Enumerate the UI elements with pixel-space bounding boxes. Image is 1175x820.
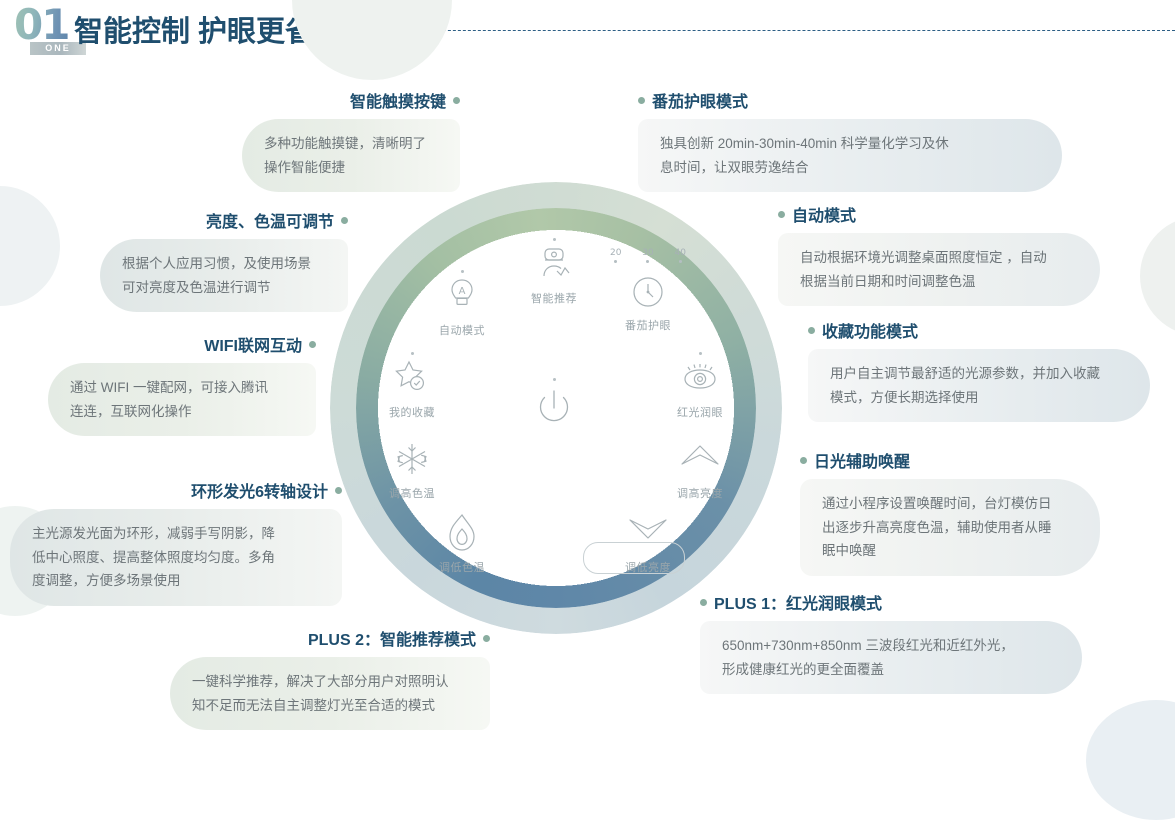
header-divider-dashed xyxy=(348,30,1175,31)
callout-plus1-red-light: PLUS 1：红光润眼模式 650nm+730nm+850nm 三波段红光和近红… xyxy=(700,590,1082,694)
svg-text:A: A xyxy=(459,286,466,297)
bullet-dot-icon xyxy=(638,97,645,104)
dial-slider-pill[interactable] xyxy=(583,542,685,574)
eye-icon xyxy=(654,357,746,403)
callout-heading: PLUS 2：智能推荐模式 xyxy=(308,626,476,650)
callout-body: 650nm+730nm+850nm 三波段红光和近红外光，形成健康红光的更全面覆… xyxy=(700,621,1082,694)
callout-heading: 智能触摸按键 xyxy=(350,88,446,112)
callout-heading: PLUS 1：红光润眼模式 xyxy=(714,590,882,614)
indicator-dot xyxy=(553,378,556,381)
callout-body: 根据个人应用习惯，及使用场景可对亮度及色温进行调节 xyxy=(100,239,348,312)
bullet-dot-icon xyxy=(335,487,342,494)
callout-body: 通过 WIFI 一键配网，可接入腾讯连连，互联网化操作 xyxy=(48,363,316,436)
callout-body: 通过小程序设置唤醒时间，台灯模仿日出逐步升高亮度色温，辅助使用者从睡眠中唤醒 xyxy=(800,479,1100,576)
callout-plus2-smart-recommend: PLUS 2：智能推荐模式 一键科学推荐，解决了大部分用户对照明认知不足而无法自… xyxy=(170,626,490,730)
callout-body: 多种功能触摸键，清晰明了操作智能便捷 xyxy=(242,119,460,192)
callout-heading-row: 收藏功能模式 xyxy=(808,318,1150,342)
dial-button-red-light[interactable]: 红光润眼 xyxy=(654,352,746,420)
snowflake-icon xyxy=(366,438,458,484)
callout-heading-row: 番茄护眼模式 xyxy=(638,88,1062,112)
dial-label: 调低色温 xyxy=(416,559,508,575)
callout-touch-buttons: 智能触摸按键 多种功能触摸键，清晰明了操作智能便捷 xyxy=(242,88,460,192)
chevron-up-icon xyxy=(654,438,746,484)
bullet-dot-icon xyxy=(808,327,815,334)
dial-button-color-temp-down[interactable]: 调低色温 xyxy=(416,512,508,575)
bullet-dot-icon xyxy=(800,457,807,464)
dial-button-color-temp-up[interactable]: 调高色温 xyxy=(366,438,458,501)
bullet-dot-icon xyxy=(453,97,460,104)
scale-dot xyxy=(646,260,649,263)
dial-label: 番茄护眼 xyxy=(602,317,694,333)
section-number: 01 xyxy=(14,4,68,46)
person-chart-icon xyxy=(508,243,600,289)
dial-label: 自动模式 xyxy=(416,322,508,338)
indicator-dot xyxy=(461,270,464,273)
callout-tomato-eyecare: 番茄护眼模式 独具创新 20min-30min-40min 科学量化学习及休息时… xyxy=(638,88,1062,192)
dial-label: 我的收藏 xyxy=(366,404,458,420)
indicator-dot xyxy=(553,238,556,241)
callout-heading: 日光辅助唤醒 xyxy=(814,448,910,472)
scale-tick-30: 30 xyxy=(642,248,653,263)
decorative-arc xyxy=(292,0,452,80)
decorative-circle xyxy=(0,186,60,306)
callout-heading: WIFI联网互动 xyxy=(204,332,302,356)
callout-body: 独具创新 20min-30min-40min 科学量化学习及休息时间，让双眼劳逸… xyxy=(638,119,1062,192)
scale-tick-40: 40 xyxy=(675,248,686,263)
scale-tick-label: 20 xyxy=(610,248,621,258)
page-header: 01 ONE 智能控制 护眼更省心 xyxy=(0,0,1175,66)
callout-body: 一键科学推荐，解决了大部分用户对照明认知不足而无法自主调整灯光至合适的模式 xyxy=(170,657,490,730)
callout-wifi: WIFI联网互动 通过 WIFI 一键配网，可接入腾讯连连，互联网化操作 xyxy=(48,332,316,436)
power-icon xyxy=(508,383,600,429)
callout-heading-row: WIFI联网互动 xyxy=(48,332,316,356)
callout-body: 自动根据环境光调整桌面照度恒定 ，自动根据当前日期和时间调整色温 xyxy=(778,233,1100,306)
bullet-dot-icon xyxy=(309,341,316,348)
dial-button-tomato-eyecare[interactable]: 番茄护眼 xyxy=(602,270,694,333)
scale-tick-20: 20 xyxy=(610,248,621,263)
callout-auto-mode: 自动模式 自动根据环境光调整桌面照度恒定 ，自动根据当前日期和时间调整色温 xyxy=(778,202,1100,306)
callout-heading-row: 亮度、色温可调节 xyxy=(100,208,348,232)
bullet-dot-icon xyxy=(700,599,707,606)
bullet-dot-icon xyxy=(778,211,785,218)
callout-ring-design: 环形发光6转轴设计 主光源发光面为环形，减弱手写阴影，降低中心照度、提高整体照度… xyxy=(10,478,342,606)
clock-icon xyxy=(602,270,694,316)
callout-heading-row: PLUS 1：红光润眼模式 xyxy=(700,590,1082,614)
callout-heading: 番茄护眼模式 xyxy=(652,88,748,112)
scale-tick-label: 40 xyxy=(675,248,686,258)
bullet-dot-icon xyxy=(483,635,490,642)
callout-body: 主光源发光面为环形，减弱手写阴影，降低中心照度、提高整体照度均匀度。多角度调整，… xyxy=(10,509,342,606)
tomato-timer-scale: 20 30 40 xyxy=(602,248,694,263)
dial-button-power[interactable] xyxy=(508,378,600,430)
dial-label: 红光润眼 xyxy=(654,404,746,420)
callout-heading: 收藏功能模式 xyxy=(822,318,918,342)
callout-daylight-wake: 日光辅助唤醒 通过小程序设置唤醒时间，台灯模仿日出逐步升高亮度色温，辅助使用者从… xyxy=(800,448,1100,576)
dial-button-brightness-up[interactable]: 调高亮度 xyxy=(654,438,746,501)
bullet-dot-icon xyxy=(341,217,348,224)
callout-heading: 自动模式 xyxy=(792,202,856,226)
indicator-dot xyxy=(699,352,702,355)
dial-label: 调高色温 xyxy=(366,485,458,501)
decorative-circle xyxy=(1086,700,1175,820)
callout-heading-row: 自动模式 xyxy=(778,202,1100,226)
flame-icon xyxy=(416,512,508,558)
callout-heading-row: 日光辅助唤醒 xyxy=(800,448,1100,472)
dial-label: 调高亮度 xyxy=(654,485,746,501)
callout-heading-row: 智能触摸按键 xyxy=(242,88,460,112)
star-check-icon xyxy=(366,357,458,403)
bulb-a-icon: A xyxy=(416,275,508,321)
callout-heading-row: PLUS 2：智能推荐模式 xyxy=(170,626,490,650)
callout-body: 用户自主调节最舒适的光源参数，并加入收藏模式，方便长期选择使用 xyxy=(808,349,1150,422)
dial-button-auto-mode[interactable]: A 自动模式 xyxy=(416,270,508,338)
callout-heading: 环形发光6转轴设计 xyxy=(191,478,328,502)
indicator-dot xyxy=(411,352,414,355)
scale-dot xyxy=(614,260,617,263)
callout-brightness-colortemp: 亮度、色温可调节 根据个人应用习惯，及使用场景可对亮度及色温进行调节 xyxy=(100,208,348,312)
control-dial: A 自动模式 智能推荐 20 30 40 xyxy=(330,182,782,634)
scale-dot xyxy=(679,260,682,263)
scale-tick-label: 30 xyxy=(642,248,653,258)
dial-button-smart-recommend[interactable]: 智能推荐 xyxy=(508,238,600,306)
dial-label: 智能推荐 xyxy=(508,290,600,306)
callout-heading: 亮度、色温可调节 xyxy=(206,208,334,232)
callout-heading-row: 环形发光6转轴设计 xyxy=(10,478,342,502)
callout-favorite-mode: 收藏功能模式 用户自主调节最舒适的光源参数，并加入收藏模式，方便长期选择使用 xyxy=(808,318,1150,422)
dial-button-my-favorites[interactable]: 我的收藏 xyxy=(366,352,458,420)
